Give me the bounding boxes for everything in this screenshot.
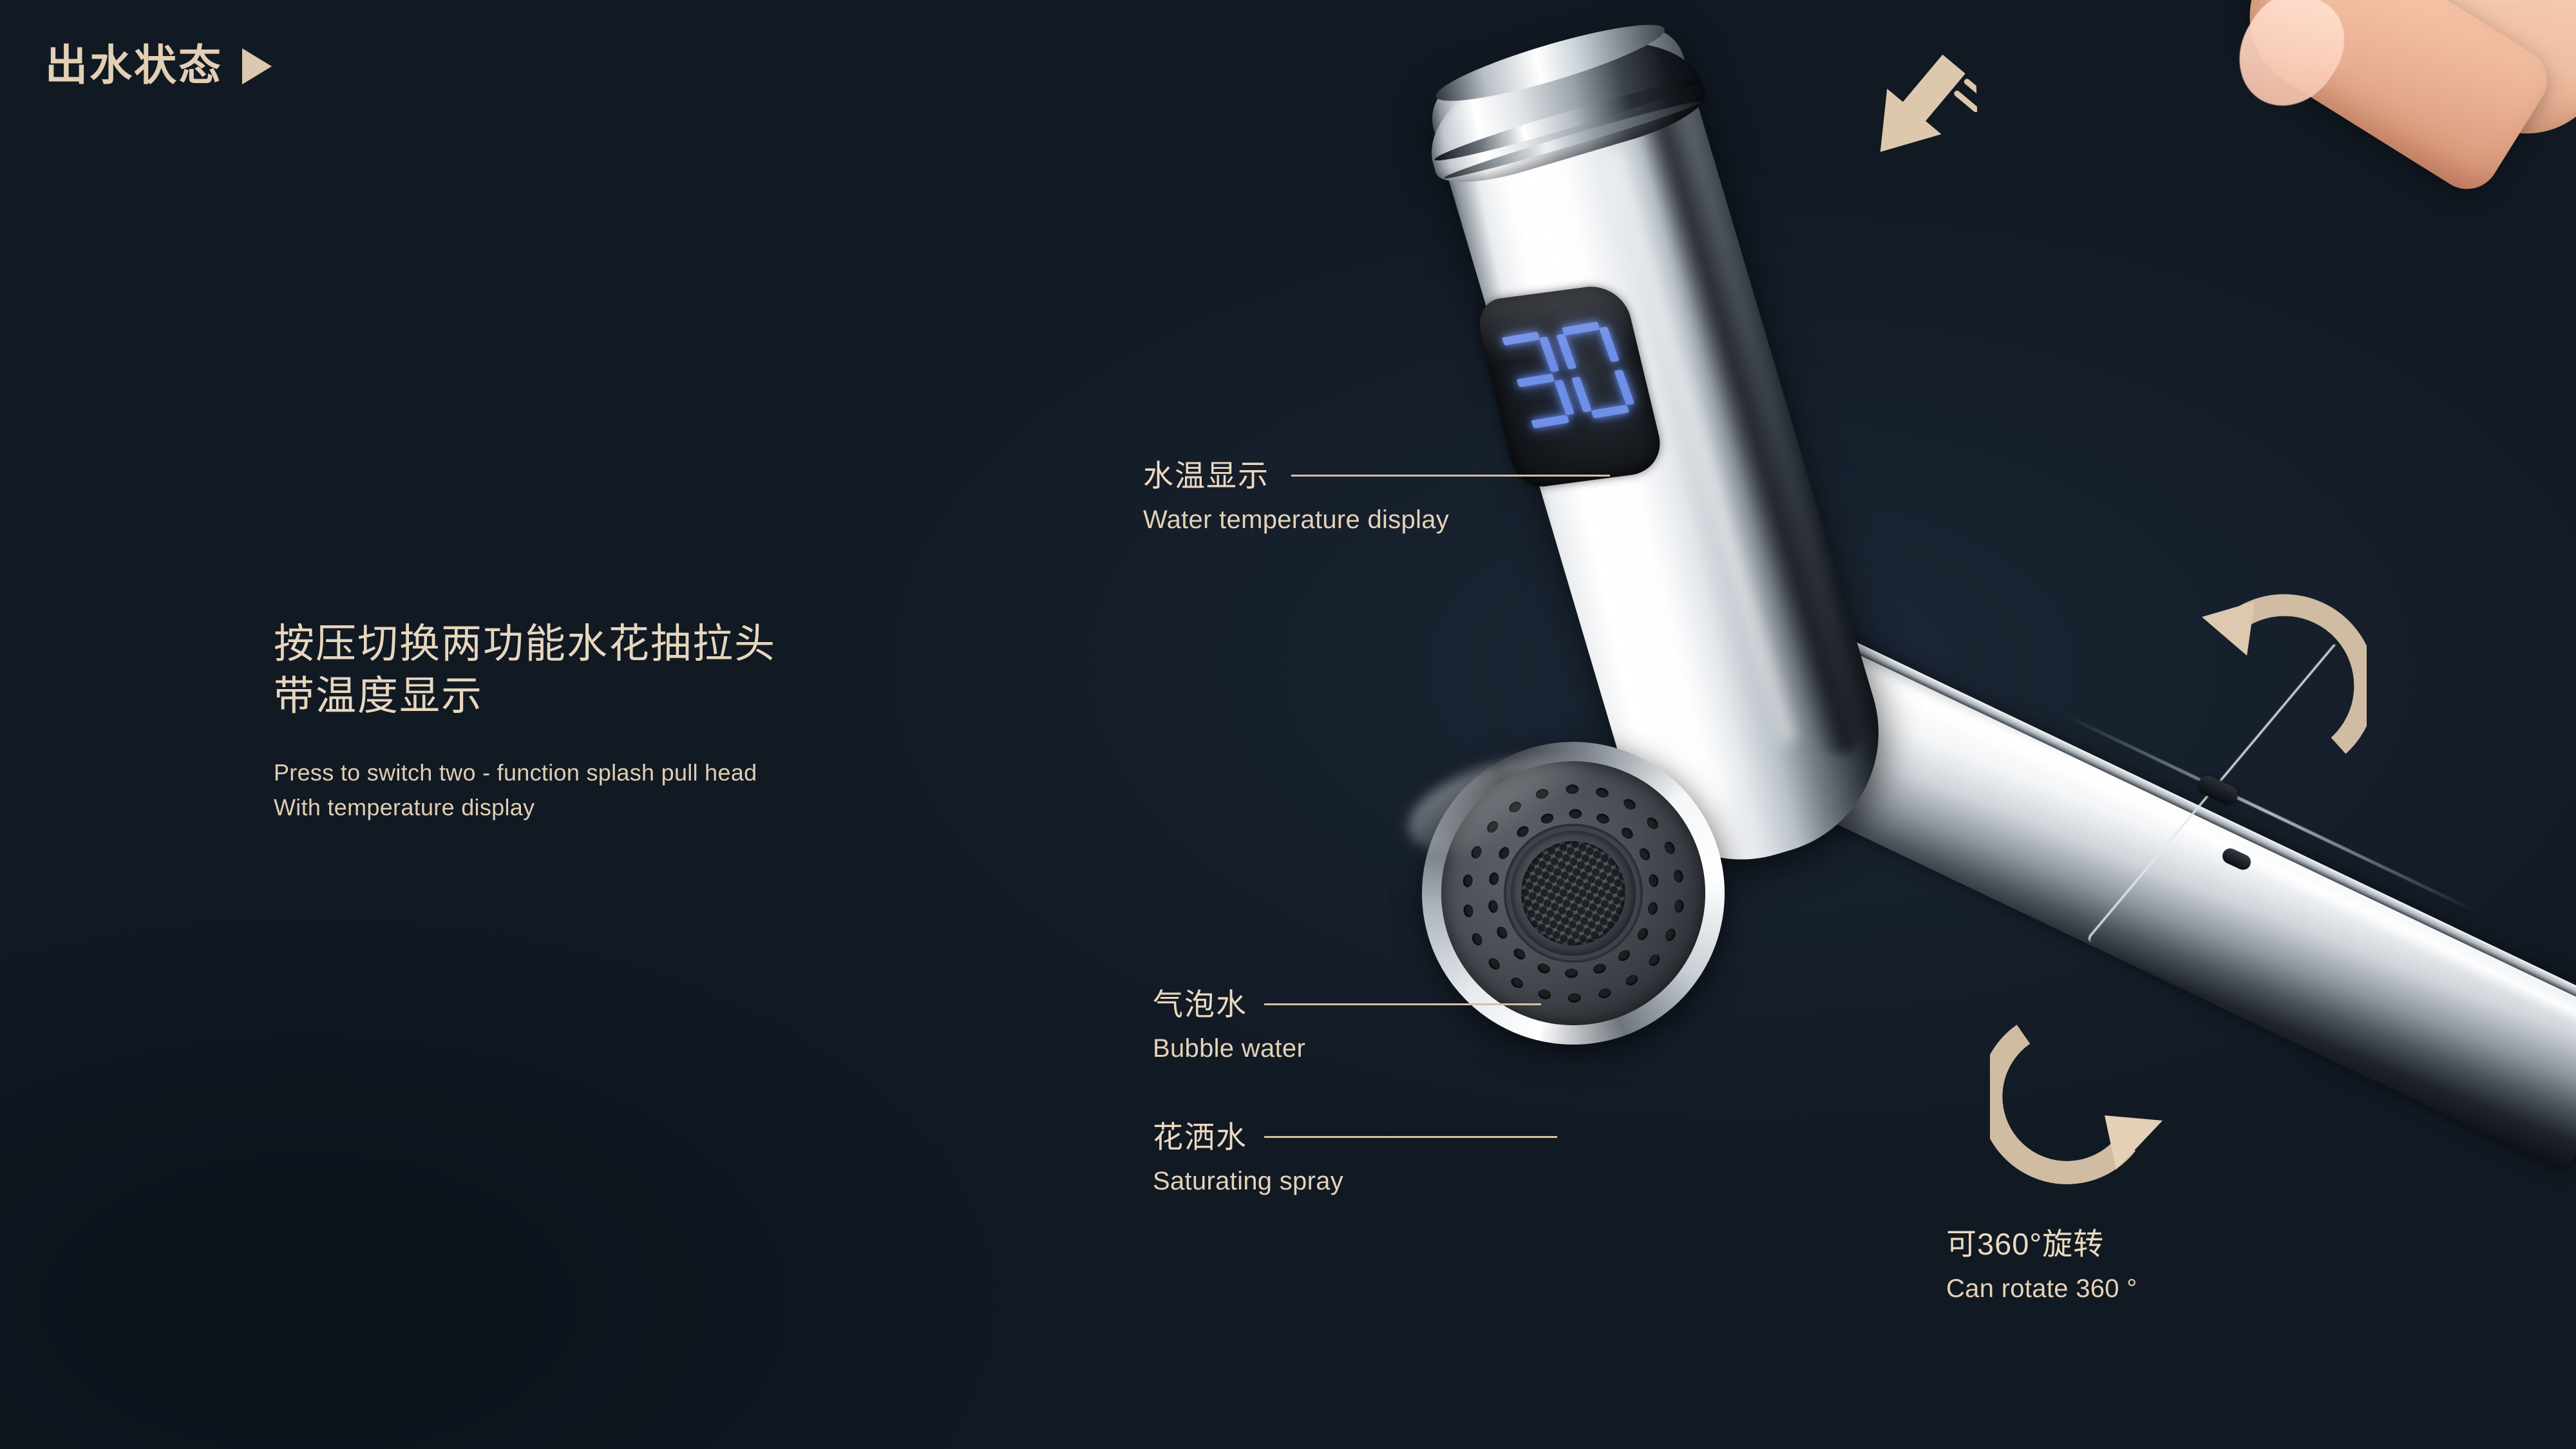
aerator-spray-hole [1495, 925, 1510, 941]
aerator-spray-hole [1569, 809, 1582, 819]
annotation-label-cn: 气泡水 [1153, 989, 1247, 1019]
page-title: 出水状态 [45, 44, 223, 86]
leader-line [1264, 1136, 1557, 1138]
rotate-clockwise-arrow-icon [1990, 1018, 2177, 1211]
feature-copy-block: 按压切换两功能水花抽拉头 带温度显示 Press to switch two -… [274, 618, 1111, 825]
product-feature-slide: 出水状态 按压切换两功能水花抽拉头 带温度显示 Press to switch … [0, 0, 2576, 1449]
aerator-spray-hole [1618, 825, 1634, 840]
finger-press-hand [2209, 0, 2576, 277]
aerator-spray-hole [1515, 824, 1531, 840]
feature-headline-cn-line1: 按压切换两功能水花抽拉头 [274, 618, 1111, 670]
aerator-spray-hole [1507, 799, 1523, 815]
aerator-spray-hole [1463, 904, 1474, 918]
led-digit [1494, 330, 1577, 430]
aerator-spray-hole [1673, 899, 1684, 913]
aerator-honeycomb-mesh [1509, 829, 1638, 958]
aerator-spray-hole [1662, 840, 1676, 857]
rotate-label-en: Can rotate 360 ° [1946, 1276, 2137, 1302]
press-down-arrow-icon [1853, 43, 1980, 176]
aerator-spray-hole [1624, 972, 1640, 988]
aerator-spray-hole [1647, 901, 1659, 915]
annotation-water-temperature: 水温显示 Water temperature display [1143, 460, 1610, 533]
aerator-spray-hole [1595, 786, 1609, 799]
aerator-spray-hole [1645, 815, 1661, 831]
feature-subtext-block: Press to switch two - function splash pu… [274, 755, 1111, 825]
annotation-label-en: Bubble water [1153, 1036, 1541, 1061]
aerator-spray-hole [1616, 947, 1632, 963]
aerator-spray-hole [1488, 872, 1500, 886]
annotation-row: 气泡水 [1153, 989, 1541, 1019]
aerator-spray-hole [1488, 900, 1499, 914]
aerator-spray-hole [1535, 788, 1550, 800]
aerator-spray-hole [1647, 952, 1662, 968]
rotate-caption: 可360°旋转 Can rotate 360 ° [1946, 1229, 2137, 1302]
aerator-spray-hole [1512, 946, 1528, 961]
feature-subtext-en-line2: With temperature display [274, 790, 1111, 825]
annotation-label-en: Saturating spray [1153, 1168, 1557, 1194]
aerator-spray-hole [1463, 874, 1473, 888]
annotation-row: 水温显示 [1143, 460, 1610, 491]
aerator-spray-hole [1647, 873, 1659, 887]
slide-header: 出水状态 [45, 44, 272, 86]
aerator-spray-hole [1592, 962, 1607, 976]
annotation-label-cn: 水温显示 [1143, 460, 1269, 491]
aerator-spray-hole [1595, 812, 1611, 826]
aerator-spray-hole [1537, 961, 1552, 975]
leader-line [1291, 475, 1610, 477]
aerator-spray-hole [1635, 926, 1650, 942]
led-temperature-digits [1494, 320, 1637, 430]
annotation-saturating-spray: 花洒水 Saturating spray [1153, 1122, 1557, 1194]
feature-subtext-en-line1: Press to switch two - function splash pu… [274, 755, 1111, 790]
aerator-spray-hole [1484, 819, 1500, 835]
aerator-spray-hole [1597, 987, 1613, 999]
aerator-spray-hole [1470, 931, 1484, 947]
aerator-spray-hole [1509, 975, 1525, 990]
annotation-row: 花洒水 [1153, 1122, 1557, 1152]
aerator-spray-hole [1486, 956, 1502, 972]
annotation-label-cn: 花洒水 [1153, 1122, 1247, 1152]
aerator-spray-hole [1637, 846, 1652, 862]
aerator-spray-hole [1540, 811, 1555, 825]
rotate-label-cn: 可360°旋转 [1946, 1229, 2137, 1259]
leader-line [1264, 1003, 1541, 1005]
annotation-label-en: Water temperature display [1143, 507, 1610, 533]
aerator-spray-hole [1568, 993, 1581, 1003]
aerator-inner-bubble-water [1496, 816, 1651, 971]
aerator-spray-hole [1470, 844, 1484, 860]
aerator-spray-hole [1672, 869, 1684, 884]
aerator-spray-hole [1565, 968, 1578, 978]
annotation-bubble-water: 气泡水 Bubble water [1153, 989, 1541, 1061]
aerator-spray-hole [1622, 797, 1638, 812]
aerator-spray-hole [1566, 784, 1578, 794]
play-triangle-icon [242, 48, 272, 84]
aerator-spray-hole [1663, 927, 1678, 942]
rotate-counterclockwise-arrow-icon [2193, 580, 2367, 766]
aerator-spray-hole [1497, 845, 1511, 861]
feature-headline-cn-line2: 带温度显示 [274, 670, 1111, 723]
